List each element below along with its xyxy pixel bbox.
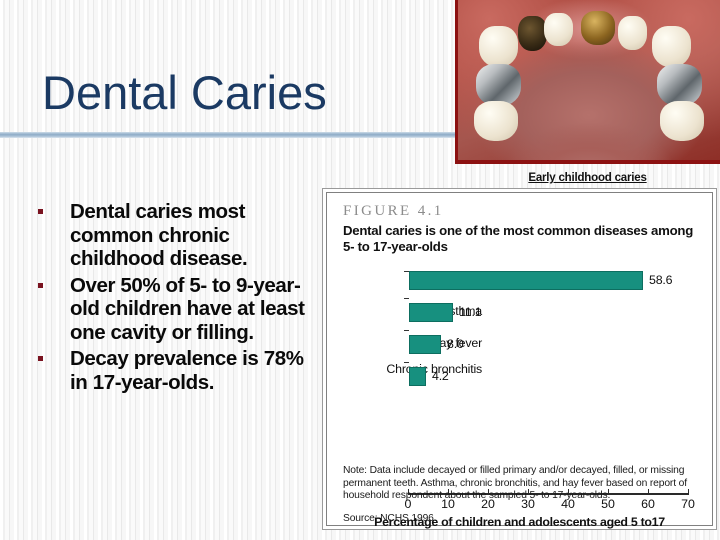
list-item-label: Dental caries most common chronic childh… — [70, 200, 247, 270]
bullet-marker-icon — [38, 356, 43, 361]
chart-bar-hay-fever — [409, 335, 441, 354]
chart-bar-value: 8.0 — [447, 337, 464, 351]
figure-panel: FIGURE 4.1 Dental caries is one of the m… — [322, 188, 717, 530]
chart-bar-value: 58.6 — [649, 273, 672, 287]
chart-bar-value: 4.2 — [432, 369, 449, 383]
bar-chart: Caries Asthma Hay fever Chronic bronchit… — [327, 269, 712, 417]
chart-bar-value: 11.1 — [459, 305, 481, 319]
photo-image — [458, 0, 720, 160]
list-item: Dental caries most common chronic childh… — [28, 200, 324, 271]
chart-bar-asthma — [409, 303, 453, 322]
clinical-photo — [455, 0, 720, 164]
photo-caption: Early childhood caries — [455, 172, 720, 184]
figure-heading: Dental caries is one of the most common … — [343, 223, 695, 254]
list-item: Over 50% of 5- to 9-year-old children ha… — [28, 274, 324, 345]
chart-bar-caries — [409, 271, 643, 290]
chart-bar-chronic-bronchitis — [409, 367, 426, 386]
figure-note: Note: Data include decayed or filled pri… — [343, 465, 701, 503]
figure-inner-frame: FIGURE 4.1 Dental caries is one of the m… — [326, 192, 713, 526]
bullet-marker-icon — [38, 283, 43, 288]
figure-number: FIGURE 4.1 — [343, 203, 444, 220]
list-item: Decay prevalence is 78% in 17-year-olds. — [28, 347, 324, 394]
list-item-label: Over 50% of 5- to 9-year-old children ha… — [70, 274, 305, 344]
title-underline-rule — [0, 132, 456, 138]
bullet-marker-icon — [38, 209, 43, 214]
bullet-list: Dental caries most common chronic childh… — [28, 200, 324, 397]
page-title: Dental Caries — [42, 68, 327, 118]
list-item-label: Decay prevalence is 78% in 17-year-olds. — [70, 347, 304, 394]
slide-canvas: Dental Caries Dental caries most common … — [0, 0, 720, 540]
figure-source: Source: NCHS 1996. — [343, 513, 436, 524]
